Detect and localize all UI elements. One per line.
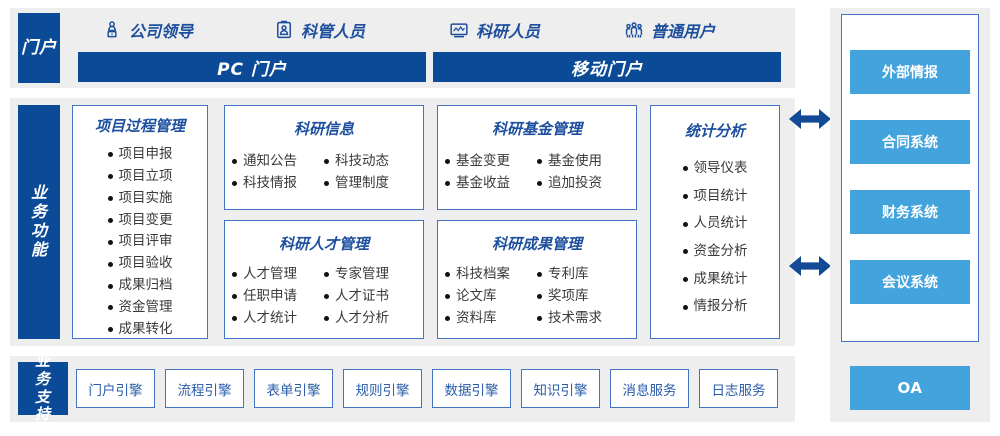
section-label-portal-text: 门户: [21, 38, 57, 58]
card-title-research-information: 科研信息: [294, 118, 354, 139]
card-body-research-talent-management: 人才管理 任职申请 人才统计 专家管理 人才证书 人才分析: [232, 264, 416, 330]
list-item[interactable]: 项目变更: [108, 210, 173, 232]
engine-chip-data-label: 数据引擎: [445, 379, 499, 399]
role-label-company-leader: 公司领导: [129, 18, 193, 42]
list-item[interactable]: 基金使用: [537, 151, 629, 173]
engine-chip-portal-label: 门户引擎: [89, 379, 143, 399]
bullet-column: 专家管理 人才证书 人才分析: [324, 264, 416, 330]
list-item[interactable]: 项目申报: [108, 144, 173, 166]
list-item[interactable]: 科技情报: [232, 173, 324, 195]
engine-chip-message-service[interactable]: 消息服务: [610, 369, 689, 408]
card-project-process-management[interactable]: 项目过程管理 项目申报 项目立项 项目实施 项目变更 项目评审 项目验收 成果归…: [72, 105, 208, 339]
section-label-business-support-text: 业务支持: [28, 353, 58, 424]
list-item[interactable]: 管理制度: [324, 173, 416, 195]
leader-person-icon: [102, 20, 122, 40]
engine-chip-form-label: 表单引擎: [267, 379, 321, 399]
list-item[interactable]: 成果归档: [108, 275, 173, 297]
bullet-column: 基金变更 基金收益: [445, 151, 537, 195]
list-item[interactable]: 追加投资: [537, 173, 629, 195]
list-item[interactable]: 奖项库: [537, 286, 629, 308]
list-item[interactable]: 资料库: [445, 308, 537, 330]
role-item-company-leader[interactable]: 公司领导: [70, 18, 245, 42]
role-item-normal-user[interactable]: 普通用户: [595, 18, 788, 42]
portal-button-mobile[interactable]: 移动门户: [433, 52, 781, 82]
card-statistical-analysis[interactable]: 统计分析 领导仪表 项目统计 人员统计 资金分析 成果统计 情报分析: [650, 105, 780, 339]
card-research-achievement-management[interactable]: 科研成果管理 科技档案 论文库 资料库 专利库 奖项库 技术需求: [437, 220, 637, 339]
engine-chip-log-service[interactable]: 日志服务: [699, 369, 778, 408]
bullet-column: 人才管理 任职申请 人才统计: [232, 264, 324, 330]
list-item[interactable]: 科技档案: [445, 264, 537, 286]
engine-chip-workflow[interactable]: 流程引擎: [165, 369, 244, 408]
system-chip-external-intelligence[interactable]: 外部情报: [850, 50, 970, 94]
system-chip-finance-label: 财务系统: [882, 202, 938, 222]
engine-chip-knowledge-label: 知识引擎: [534, 379, 588, 399]
role-label-researcher: 科研人员: [476, 18, 540, 42]
card-title-statistical-analysis: 统计分析: [685, 120, 745, 141]
bullet-column: 专利库 奖项库 技术需求: [537, 264, 629, 330]
list-item[interactable]: 通知公告: [232, 151, 324, 173]
engine-chip-form[interactable]: 表单引擎: [254, 369, 333, 408]
portal-button-pc-label: PC 门户: [217, 55, 287, 80]
list-item[interactable]: 专利库: [537, 264, 629, 286]
list-item[interactable]: 人才证书: [324, 286, 416, 308]
list-item[interactable]: 项目评审: [108, 231, 173, 253]
system-chip-contract[interactable]: 合同系统: [850, 120, 970, 164]
list-item[interactable]: 项目实施: [108, 188, 173, 210]
bullet-column: 领导仪表 项目统计 人员统计 资金分析 成果统计 情报分析: [683, 155, 748, 321]
list-item[interactable]: 科技动态: [324, 151, 416, 173]
system-chip-finance[interactable]: 财务系统: [850, 190, 970, 234]
list-item[interactable]: 成果统计: [683, 266, 748, 294]
section-label-portal: 门户: [18, 13, 60, 83]
list-item[interactable]: 人才统计: [232, 308, 324, 330]
engine-chip-rule[interactable]: 规则引擎: [343, 369, 422, 408]
card-body-statistical-analysis: 领导仪表 项目统计 人员统计 资金分析 成果统计 情报分析: [683, 155, 748, 321]
bullet-column: 科技动态 管理制度: [324, 151, 416, 195]
list-item[interactable]: 资金分析: [683, 238, 748, 266]
system-chip-external-intelligence-label: 外部情报: [882, 62, 938, 82]
list-item[interactable]: 资金管理: [108, 297, 173, 319]
system-chip-contract-label: 合同系统: [882, 132, 938, 152]
system-chip-meeting[interactable]: 会议系统: [850, 260, 970, 304]
list-item[interactable]: 技术需求: [537, 308, 629, 330]
list-item[interactable]: 人员统计: [683, 210, 748, 238]
list-item[interactable]: 领导仪表: [683, 155, 748, 183]
section-label-business-support: 业务支持: [18, 362, 68, 415]
list-item[interactable]: 情报分析: [683, 293, 748, 321]
user-group-icon: [624, 20, 644, 40]
system-chip-oa-label: OA: [898, 379, 923, 397]
portal-button-mobile-label: 移动门户: [571, 55, 643, 80]
card-body-research-achievement-management: 科技档案 论文库 资料库 专利库 奖项库 技术需求: [445, 264, 629, 330]
system-chip-oa[interactable]: OA: [850, 366, 970, 410]
engine-chip-message-service-label: 消息服务: [623, 379, 677, 399]
card-title-research-fund-management: 科研基金管理: [492, 118, 582, 139]
list-item[interactable]: 人才管理: [232, 264, 324, 286]
engine-chip-rule-label: 规则引擎: [356, 379, 410, 399]
double-arrow-top: [788, 106, 832, 136]
bullet-column: 基金使用 追加投资: [537, 151, 629, 195]
section-label-business-function-text: 业务功能: [31, 184, 47, 260]
list-item[interactable]: 项目立项: [108, 166, 173, 188]
list-item[interactable]: 专家管理: [324, 264, 416, 286]
chart-monitor-icon: [449, 20, 469, 40]
double-arrow-bottom: [788, 253, 832, 283]
list-item[interactable]: 任职申请: [232, 286, 324, 308]
card-research-talent-management[interactable]: 科研人才管理 人才管理 任职申请 人才统计 专家管理 人才证书 人才分析: [224, 220, 424, 339]
list-item[interactable]: 基金收益: [445, 173, 537, 195]
badge-person-icon: [274, 20, 294, 40]
list-item[interactable]: 成果转化: [108, 319, 173, 341]
role-item-research-admin[interactable]: 科管人员: [245, 18, 420, 42]
role-label-normal-user: 普通用户: [651, 18, 715, 42]
list-item[interactable]: 基金变更: [445, 151, 537, 173]
double-arrow-icon: [788, 106, 832, 132]
role-item-researcher[interactable]: 科研人员: [420, 18, 595, 42]
card-research-fund-management[interactable]: 科研基金管理 基金变更 基金收益 基金使用 追加投资: [437, 105, 637, 210]
list-item[interactable]: 人才分析: [324, 308, 416, 330]
card-body-research-fund-management: 基金变更 基金收益 基金使用 追加投资: [445, 151, 629, 195]
engine-chip-log-service-label: 日志服务: [712, 379, 766, 399]
engine-chip-workflow-label: 流程引擎: [178, 379, 232, 399]
card-title-research-talent-management: 科研人才管理: [279, 233, 369, 254]
list-item[interactable]: 项目统计: [683, 183, 748, 211]
section-label-business-function: 业务功能: [18, 105, 60, 339]
bullet-column: 项目申报 项目立项 项目实施 项目变更 项目评审 项目验收 成果归档 资金管理 …: [108, 144, 173, 341]
list-item[interactable]: 论文库: [445, 286, 537, 308]
role-strip: 公司领导 科管人员 科研人员: [70, 14, 788, 46]
card-title-project-process-management: 项目过程管理: [95, 115, 185, 136]
card-body-research-information: 通知公告 科技情报 科技动态 管理制度: [232, 151, 416, 195]
double-arrow-icon: [788, 253, 832, 279]
list-item[interactable]: 项目验收: [108, 253, 173, 275]
bullet-column: 科技档案 论文库 资料库: [445, 264, 537, 330]
architecture-diagram: 门户 公司领导 科: [0, 0, 1000, 436]
system-chip-meeting-label: 会议系统: [882, 272, 938, 292]
engine-chip-data[interactable]: 数据引擎: [432, 369, 511, 408]
engine-chip-portal[interactable]: 门户引擎: [76, 369, 155, 408]
card-body-project-process-management: 项目申报 项目立项 项目实施 项目变更 项目评审 项目验收 成果归档 资金管理 …: [108, 144, 173, 341]
role-label-research-admin: 科管人员: [301, 18, 365, 42]
portal-button-pc[interactable]: PC 门户: [78, 52, 426, 82]
bullet-column: 通知公告 科技情报: [232, 151, 324, 195]
engine-chip-knowledge[interactable]: 知识引擎: [521, 369, 600, 408]
card-title-research-achievement-management: 科研成果管理: [492, 233, 582, 254]
card-research-information[interactable]: 科研信息 通知公告 科技情报 科技动态 管理制度: [224, 105, 424, 210]
